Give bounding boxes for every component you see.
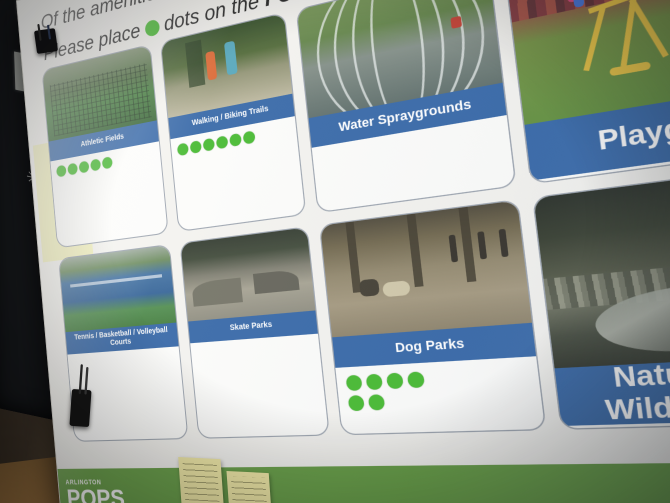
sticky-note[interactable] [178,457,224,503]
green-dot-icon [144,18,160,37]
card-photo-dog-parks [320,200,532,337]
handwriting-icon [231,476,267,503]
amenity-card-athletic-fields[interactable]: Athletic Fields [42,44,169,248]
vote-dot [190,140,202,154]
arlington-pops-logo: ARLINGTON POPS [65,480,152,503]
clip-body [69,389,91,427]
dot-area-athletic-fields[interactable] [50,141,167,247]
amenity-card-natural-areas-wildlife-habitats[interactable]: CREDIT: WRT Natural Areas / Wildlife Hab… [532,150,670,430]
binder-clip-bottom[interactable] [69,389,91,427]
vote-dot [56,165,66,178]
binder-clip-top[interactable] [34,28,58,54]
vote-dot [177,143,189,157]
vote-dot [368,394,385,410]
vote-dot [346,375,363,391]
sticky-note[interactable] [226,471,271,503]
dot-area-skate-parks[interactable] [190,334,328,438]
amenity-card-dog-parks[interactable]: Dog Parks [319,199,547,435]
poster-board-wrapper: Of the amenities pictured, which are Ple… [0,0,670,503]
vote-dot [366,374,383,390]
vote-dot [102,156,113,169]
board-footer-band: ARLINGTON POPS [57,460,670,503]
photograph-scene: HAPPY H ✳ Of the amenities pictured, whi… [0,0,670,503]
amenity-card-playgrounds[interactable]: CREDIT: ARLINGTON PARKS AND RECREATION P… [503,0,670,184]
amenity-card-skate-parks[interactable]: Skate Parks [180,226,330,439]
vote-dot [79,161,90,174]
vote-dot [203,138,215,152]
vote-dot [243,130,256,144]
vote-dot [348,395,365,411]
handwriting-icon [183,462,220,502]
card-photo-skate-parks [181,227,316,321]
dot-area-dog-parks[interactable] [335,362,440,434]
vote-dot [407,371,425,388]
amenity-card-walking-biking-trails[interactable]: Walking / Biking Trails [160,12,306,232]
logo-big-text: POPS [66,486,152,503]
card-photo-natural-areas: CREDIT: WRT [534,151,670,368]
poster-board: Of the amenities pictured, which are Ple… [16,0,670,503]
vote-dot [229,133,242,147]
vote-dot [216,135,228,149]
vote-dot [386,373,404,390]
amenity-card-water-spraygrounds[interactable]: Water Spraygrounds [296,0,517,213]
card-photo-courts [59,245,176,332]
vote-dot [67,163,78,176]
amenity-card-grid: Athletic Fields Walking / B [42,0,670,442]
vote-dot [90,158,101,171]
